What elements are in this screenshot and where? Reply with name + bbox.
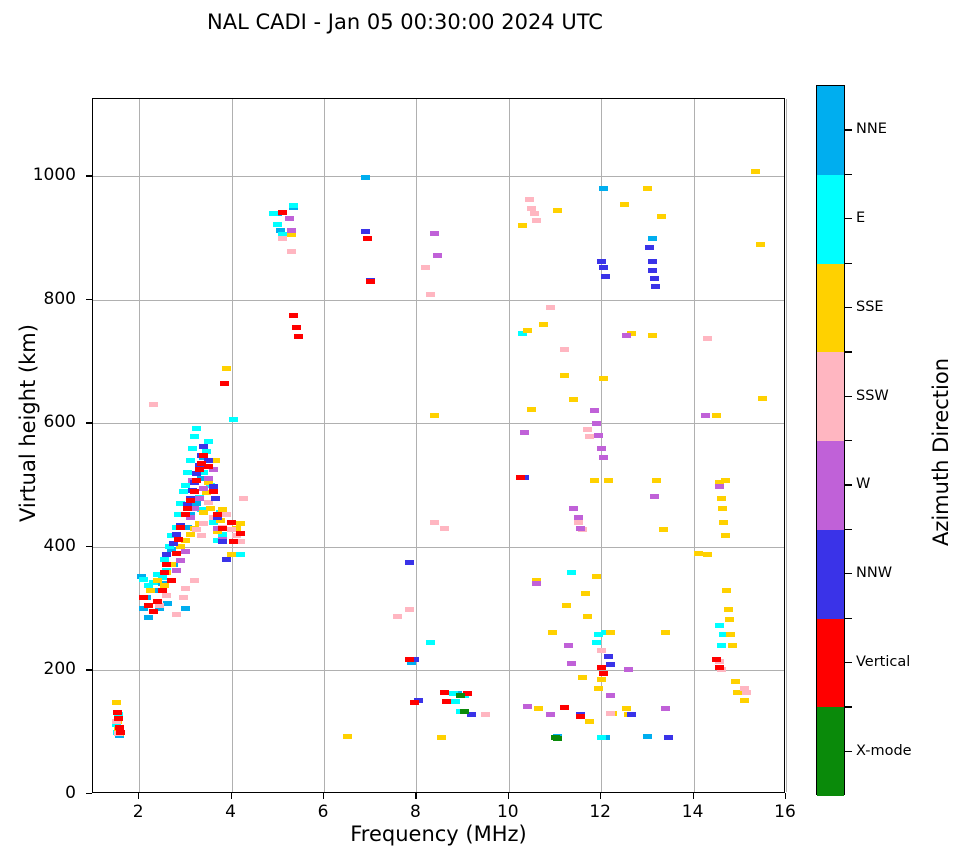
data-point (433, 253, 442, 258)
data-point (155, 603, 164, 608)
colorbar-tick (845, 751, 852, 752)
data-point (218, 539, 227, 544)
data-point (650, 276, 659, 281)
data-point (527, 407, 536, 412)
data-point (715, 484, 724, 489)
data-point (405, 607, 414, 612)
x-tick-label: 16 (765, 802, 805, 822)
y-tick-label: 200 (18, 659, 76, 679)
colorbar-segment-nnw (817, 530, 844, 619)
data-point (520, 430, 529, 435)
colorbar-segment-e (817, 175, 844, 264)
data-point (239, 496, 248, 501)
data-point (139, 577, 148, 582)
data-point (116, 730, 125, 735)
data-point (430, 231, 439, 236)
data-point (204, 464, 213, 469)
data-point (163, 601, 172, 606)
data-point (460, 709, 469, 714)
data-point (160, 570, 169, 575)
data-point (712, 657, 721, 662)
data-point (236, 521, 245, 526)
data-point (192, 478, 201, 483)
data-point (361, 229, 370, 234)
data-point (567, 570, 576, 575)
data-point (574, 520, 583, 525)
data-point (222, 512, 231, 517)
data-point (195, 496, 204, 501)
data-point (597, 735, 606, 740)
colorbar-boundary-tick (845, 618, 852, 619)
y-tick-mark (86, 299, 92, 300)
data-point (721, 533, 730, 538)
data-point (236, 552, 245, 557)
data-point (532, 581, 541, 586)
data-point (278, 210, 287, 215)
data-point (393, 614, 402, 619)
data-point (562, 603, 571, 608)
y-tick-mark (86, 422, 92, 423)
data-point (289, 203, 298, 208)
data-point (112, 700, 121, 705)
data-point (624, 667, 633, 672)
data-point (204, 476, 213, 481)
data-point (430, 520, 439, 525)
data-point (405, 657, 414, 662)
data-point (724, 607, 733, 612)
data-point (229, 417, 238, 422)
data-point (181, 606, 190, 611)
data-point (592, 640, 601, 645)
data-point (516, 475, 525, 480)
colorbar-boundary-tick (845, 440, 852, 441)
data-point (211, 496, 220, 501)
gridline-vertical (786, 99, 787, 792)
data-point (213, 512, 222, 517)
colorbar-label-vertical: Vertical (856, 654, 910, 670)
data-point (606, 693, 615, 698)
data-point (167, 578, 176, 583)
colorbar-title: Azimuth Direction (929, 277, 953, 627)
data-point (456, 693, 465, 698)
data-point (694, 551, 703, 556)
data-point (190, 489, 199, 494)
data-point (650, 494, 659, 499)
data-point (192, 527, 201, 532)
colorbar-boundary-tick (845, 351, 852, 352)
data-point (590, 408, 599, 413)
data-point (601, 274, 610, 279)
data-point (718, 506, 727, 511)
data-point (643, 186, 652, 191)
data-point (703, 552, 712, 557)
data-point (289, 313, 298, 318)
data-point (597, 665, 606, 670)
colorbar (816, 85, 845, 795)
data-point (430, 413, 439, 418)
y-axis-label: Virtual height (km) (16, 243, 40, 603)
x-tick-mark (785, 793, 786, 799)
colorbar-label-ssw: SSW (856, 388, 889, 404)
data-point (426, 640, 435, 645)
data-point (606, 630, 615, 635)
x-tick-mark (508, 793, 509, 799)
data-point (366, 279, 375, 284)
data-point (162, 552, 171, 557)
data-point (751, 169, 760, 174)
colorbar-label-nnw: NNW (856, 565, 892, 581)
data-point (287, 249, 296, 254)
data-point (574, 515, 583, 520)
colorbar-label-x-mode: X-mode (856, 743, 912, 759)
x-tick-mark (138, 793, 139, 799)
data-point (553, 736, 562, 741)
data-point (534, 706, 543, 711)
colorbar-boundary-tick (845, 706, 852, 707)
data-point (181, 549, 190, 554)
data-point (594, 433, 603, 438)
data-point (186, 498, 195, 503)
x-tick-mark (415, 793, 416, 799)
colorbar-tick (845, 396, 852, 397)
data-point (532, 218, 541, 223)
y-tick-mark (86, 669, 92, 670)
y-tick-mark (86, 793, 92, 794)
data-point (292, 325, 301, 330)
data-point (195, 467, 204, 472)
data-point (664, 735, 673, 740)
data-point (169, 541, 178, 546)
colorbar-label-w: W (856, 476, 870, 492)
data-point (172, 612, 181, 617)
data-point (518, 223, 527, 228)
data-point (659, 527, 668, 532)
data-point (560, 373, 569, 378)
data-point (209, 489, 218, 494)
data-point (569, 397, 578, 402)
data-point (657, 214, 666, 219)
data-point (599, 455, 608, 460)
data-point (273, 222, 282, 227)
data-point (440, 526, 449, 531)
y-tick-label: 1000 (18, 165, 76, 185)
data-layer (93, 99, 784, 792)
data-point (651, 284, 660, 289)
colorbar-segment-ssw (817, 352, 844, 441)
data-point (583, 614, 592, 619)
data-point (410, 700, 419, 705)
data-point (740, 698, 749, 703)
data-point (172, 551, 181, 556)
data-point (594, 686, 603, 691)
x-tick-label: 12 (580, 802, 620, 822)
data-point (236, 531, 245, 536)
data-point (546, 712, 555, 717)
data-point (606, 711, 615, 716)
data-point (597, 677, 606, 682)
x-tick-label: 14 (673, 802, 713, 822)
data-point (648, 259, 657, 264)
data-point (440, 690, 449, 695)
data-point (592, 574, 601, 579)
data-point (599, 265, 608, 270)
data-point (728, 643, 737, 648)
data-point (176, 525, 185, 530)
data-point (742, 690, 751, 695)
x-tick-label: 6 (303, 802, 343, 822)
data-point (569, 506, 578, 511)
data-point (548, 630, 557, 635)
data-point (162, 593, 171, 598)
data-point (227, 520, 236, 525)
data-point (576, 526, 585, 531)
data-point (652, 478, 661, 483)
data-point (523, 328, 532, 333)
data-point (701, 413, 710, 418)
data-point (229, 539, 238, 544)
data-point (144, 603, 153, 608)
data-point (287, 228, 296, 233)
page-title: NAL CADI - Jan 05 00:30:00 2024 UTC (0, 10, 810, 34)
data-point (113, 710, 122, 715)
data-point (604, 654, 613, 659)
data-point (567, 661, 576, 666)
colorbar-tick (845, 129, 852, 130)
data-point (222, 557, 231, 562)
colorbar-tick (845, 218, 852, 219)
data-point (421, 265, 430, 270)
data-point (181, 512, 190, 517)
data-point (523, 704, 532, 709)
data-point (183, 506, 192, 511)
data-point (227, 527, 236, 532)
data-point (560, 347, 569, 352)
data-point (285, 216, 294, 221)
data-point (361, 175, 370, 180)
data-point (183, 470, 192, 475)
data-point (553, 208, 562, 213)
data-point (186, 532, 195, 537)
data-point (192, 471, 201, 476)
colorbar-label-sse: SSE (856, 299, 884, 315)
data-point (719, 520, 728, 525)
x-tick-label: 8 (395, 802, 435, 822)
x-tick-mark (323, 793, 324, 799)
data-point (188, 446, 197, 451)
data-point (725, 617, 734, 622)
data-point (564, 643, 573, 648)
data-point (758, 396, 767, 401)
data-point (627, 712, 636, 717)
data-point (179, 489, 188, 494)
data-point (222, 366, 231, 371)
data-point (622, 333, 631, 338)
data-point (597, 648, 606, 653)
data-point (576, 714, 585, 719)
data-point (405, 560, 414, 565)
data-point (722, 588, 731, 593)
data-point (581, 591, 590, 596)
data-point (199, 486, 208, 491)
data-point (578, 675, 587, 680)
data-point (525, 197, 534, 202)
colorbar-label-nne: NNE (856, 121, 887, 137)
data-point (181, 586, 190, 591)
data-point (539, 322, 548, 327)
data-point (599, 671, 608, 676)
x-tick-mark (600, 793, 601, 799)
data-point (560, 705, 569, 710)
data-point (648, 236, 657, 241)
data-point (717, 643, 726, 648)
data-point (530, 211, 539, 216)
data-point (426, 292, 435, 297)
data-point (592, 421, 601, 426)
data-point (174, 537, 183, 542)
data-point (721, 478, 730, 483)
data-point (590, 478, 599, 483)
data-point (114, 716, 123, 721)
data-point (144, 615, 153, 620)
data-point (731, 679, 740, 684)
colorbar-segment-sse (817, 264, 844, 353)
data-point (645, 245, 654, 250)
data-point (206, 506, 215, 511)
data-point (190, 434, 199, 439)
colorbar-segment-nne (817, 86, 844, 175)
data-point (481, 712, 490, 717)
data-point (756, 242, 765, 247)
data-point (139, 595, 148, 600)
data-point (172, 568, 181, 573)
x-tick-mark (231, 793, 232, 799)
data-point (703, 336, 712, 341)
data-point (363, 236, 372, 241)
data-point (546, 305, 555, 310)
data-point (153, 599, 162, 604)
data-point (712, 413, 721, 418)
y-tick-label: 0 (18, 783, 76, 803)
plot-area (92, 98, 785, 793)
colorbar-segment-vertical (817, 619, 844, 708)
data-point (648, 268, 657, 273)
data-point (715, 665, 724, 670)
data-point (597, 259, 606, 264)
colorbar-tick (845, 484, 852, 485)
colorbar-label-e: E (856, 210, 865, 226)
colorbar-tick (845, 662, 852, 663)
colorbar-tick (845, 307, 852, 308)
x-tick-label: 10 (488, 802, 528, 822)
colorbar-segment-w (817, 441, 844, 530)
y-tick-mark (86, 546, 92, 547)
data-point (622, 706, 631, 711)
data-point (162, 562, 171, 567)
data-point (661, 630, 670, 635)
data-point (343, 734, 352, 739)
data-point (176, 558, 185, 563)
colorbar-tick (845, 573, 852, 574)
data-point (199, 510, 208, 515)
data-point (149, 609, 158, 614)
data-point (186, 458, 195, 463)
data-point (585, 434, 594, 439)
colorbar-boundary-tick (845, 263, 852, 264)
x-axis-label: Frequency (MHz) (92, 822, 785, 846)
data-point (648, 333, 657, 338)
data-point (442, 699, 451, 704)
data-point (583, 427, 592, 432)
data-point (451, 699, 460, 704)
data-point (149, 402, 158, 407)
x-tick-label: 2 (118, 802, 158, 822)
data-point (287, 232, 296, 237)
data-point (604, 478, 613, 483)
data-point (294, 334, 303, 339)
data-point (192, 426, 201, 431)
data-point (146, 588, 155, 593)
colorbar-boundary-tick (845, 174, 852, 175)
data-point (717, 496, 726, 501)
data-point (197, 533, 206, 538)
data-point (199, 444, 208, 449)
x-tick-mark (693, 793, 694, 799)
data-point (199, 453, 208, 458)
data-point (158, 588, 167, 593)
data-point (269, 211, 278, 216)
data-point (661, 706, 670, 711)
data-point (599, 186, 608, 191)
data-point (179, 595, 188, 600)
data-point (585, 719, 594, 724)
y-tick-mark (86, 175, 92, 176)
data-point (715, 623, 724, 628)
data-point (190, 578, 199, 583)
data-point (597, 446, 606, 451)
data-point (606, 662, 615, 667)
data-point (278, 236, 287, 241)
colorbar-boundary-tick (845, 529, 852, 530)
data-point (599, 376, 608, 381)
colorbar-segment-x-mode (817, 707, 844, 796)
data-point (199, 521, 208, 526)
data-point (726, 632, 735, 637)
data-point (437, 735, 446, 740)
ionogram-figure: NAL CADI - Jan 05 00:30:00 2024 UTC 2468… (0, 0, 958, 857)
data-point (620, 202, 629, 207)
x-tick-label: 4 (211, 802, 251, 822)
data-point (643, 734, 652, 739)
data-point (218, 526, 227, 531)
data-point (220, 381, 229, 386)
